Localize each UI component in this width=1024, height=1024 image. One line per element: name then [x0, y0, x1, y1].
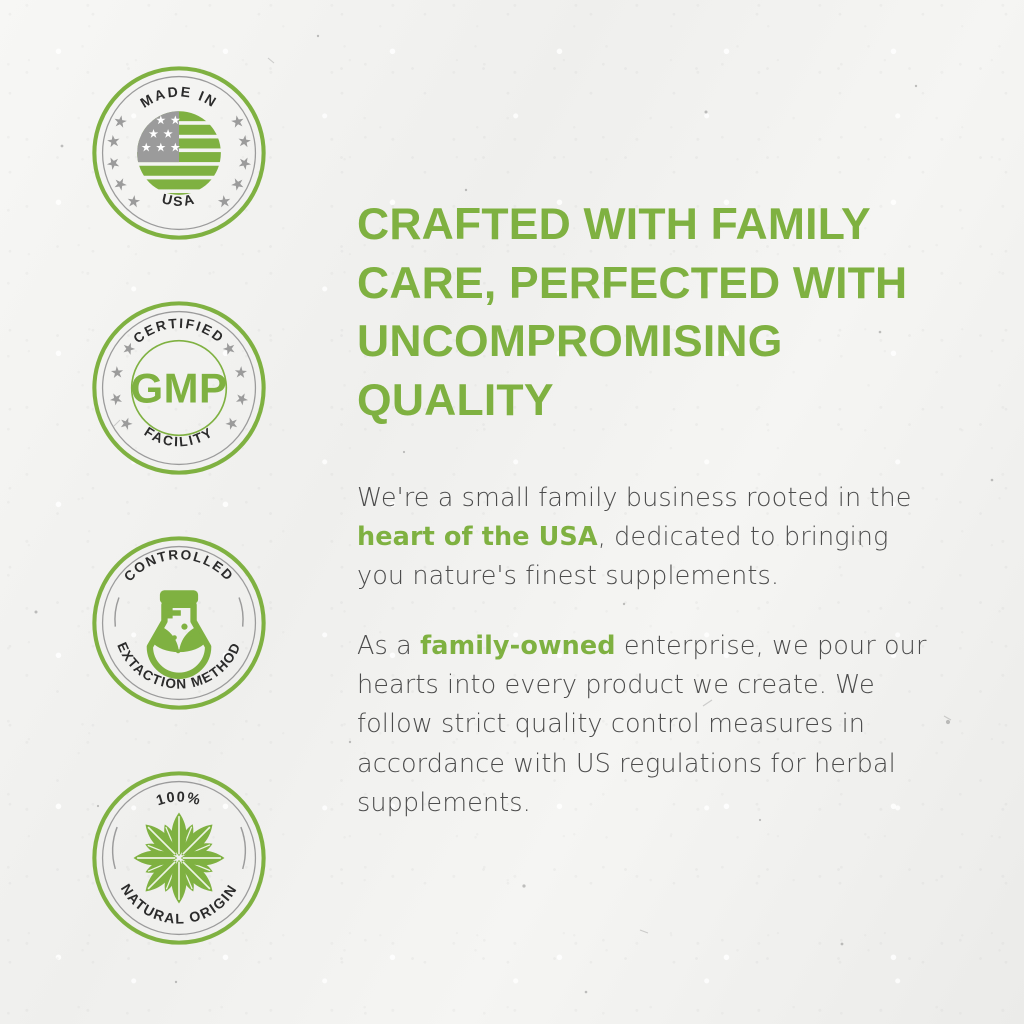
certification-badge-column: MADE IN USA — [88, 62, 298, 949]
badge-top-text: CONTROLLED — [121, 547, 237, 584]
usa-flag-circle-icon — [135, 111, 222, 203]
page-title: CRAFTED WITH FAMILY CARE, PERFECTED WITH… — [357, 196, 927, 431]
gmp-certified-facility-badge: GMP CERTIFIED FACILITY — [88, 297, 270, 479]
badge-right-accent-arc — [241, 827, 245, 869]
content-column: CRAFTED WITH FAMILY CARE, PERFECTED WITH… — [357, 196, 927, 823]
badge-top-text: CERTIFIED — [131, 316, 228, 346]
body-paragraph-2: As a family-owned enterprise, we pour ou… — [357, 627, 927, 823]
highlighted-phrase: heart of the USA — [357, 522, 598, 552]
natural-origin-badge: 100% NATURAL ORIGIN — [88, 767, 270, 949]
paragraph-text-0: We're a small family business rooted in … — [357, 483, 912, 513]
flask-with-leaves-icon — [144, 590, 213, 676]
highlighted-phrase: family-owned — [420, 631, 616, 661]
body-paragraph-1: We're a small family business rooted in … — [357, 479, 927, 597]
leaf-rosette-icon — [134, 813, 225, 904]
badge-top-text: MADE IN — [137, 83, 220, 111]
made-in-usa-badge: MADE IN USA — [88, 62, 270, 244]
badge-right-accent-arc — [239, 598, 243, 627]
paragraph-text-0: As a — [357, 631, 420, 661]
badge-top-text: 100% — [154, 789, 203, 809]
badge-bottom-text: FACILITY — [142, 424, 217, 449]
badge-left-accent-arc — [115, 598, 119, 627]
gmp-text-icon: GMP — [131, 365, 228, 412]
badge-bottom-text: USA — [160, 190, 197, 208]
badge-left-accent-arc — [113, 827, 117, 869]
controlled-extraction-method-badge: CONTROLLED EXTACTION METHOD — [88, 532, 270, 714]
